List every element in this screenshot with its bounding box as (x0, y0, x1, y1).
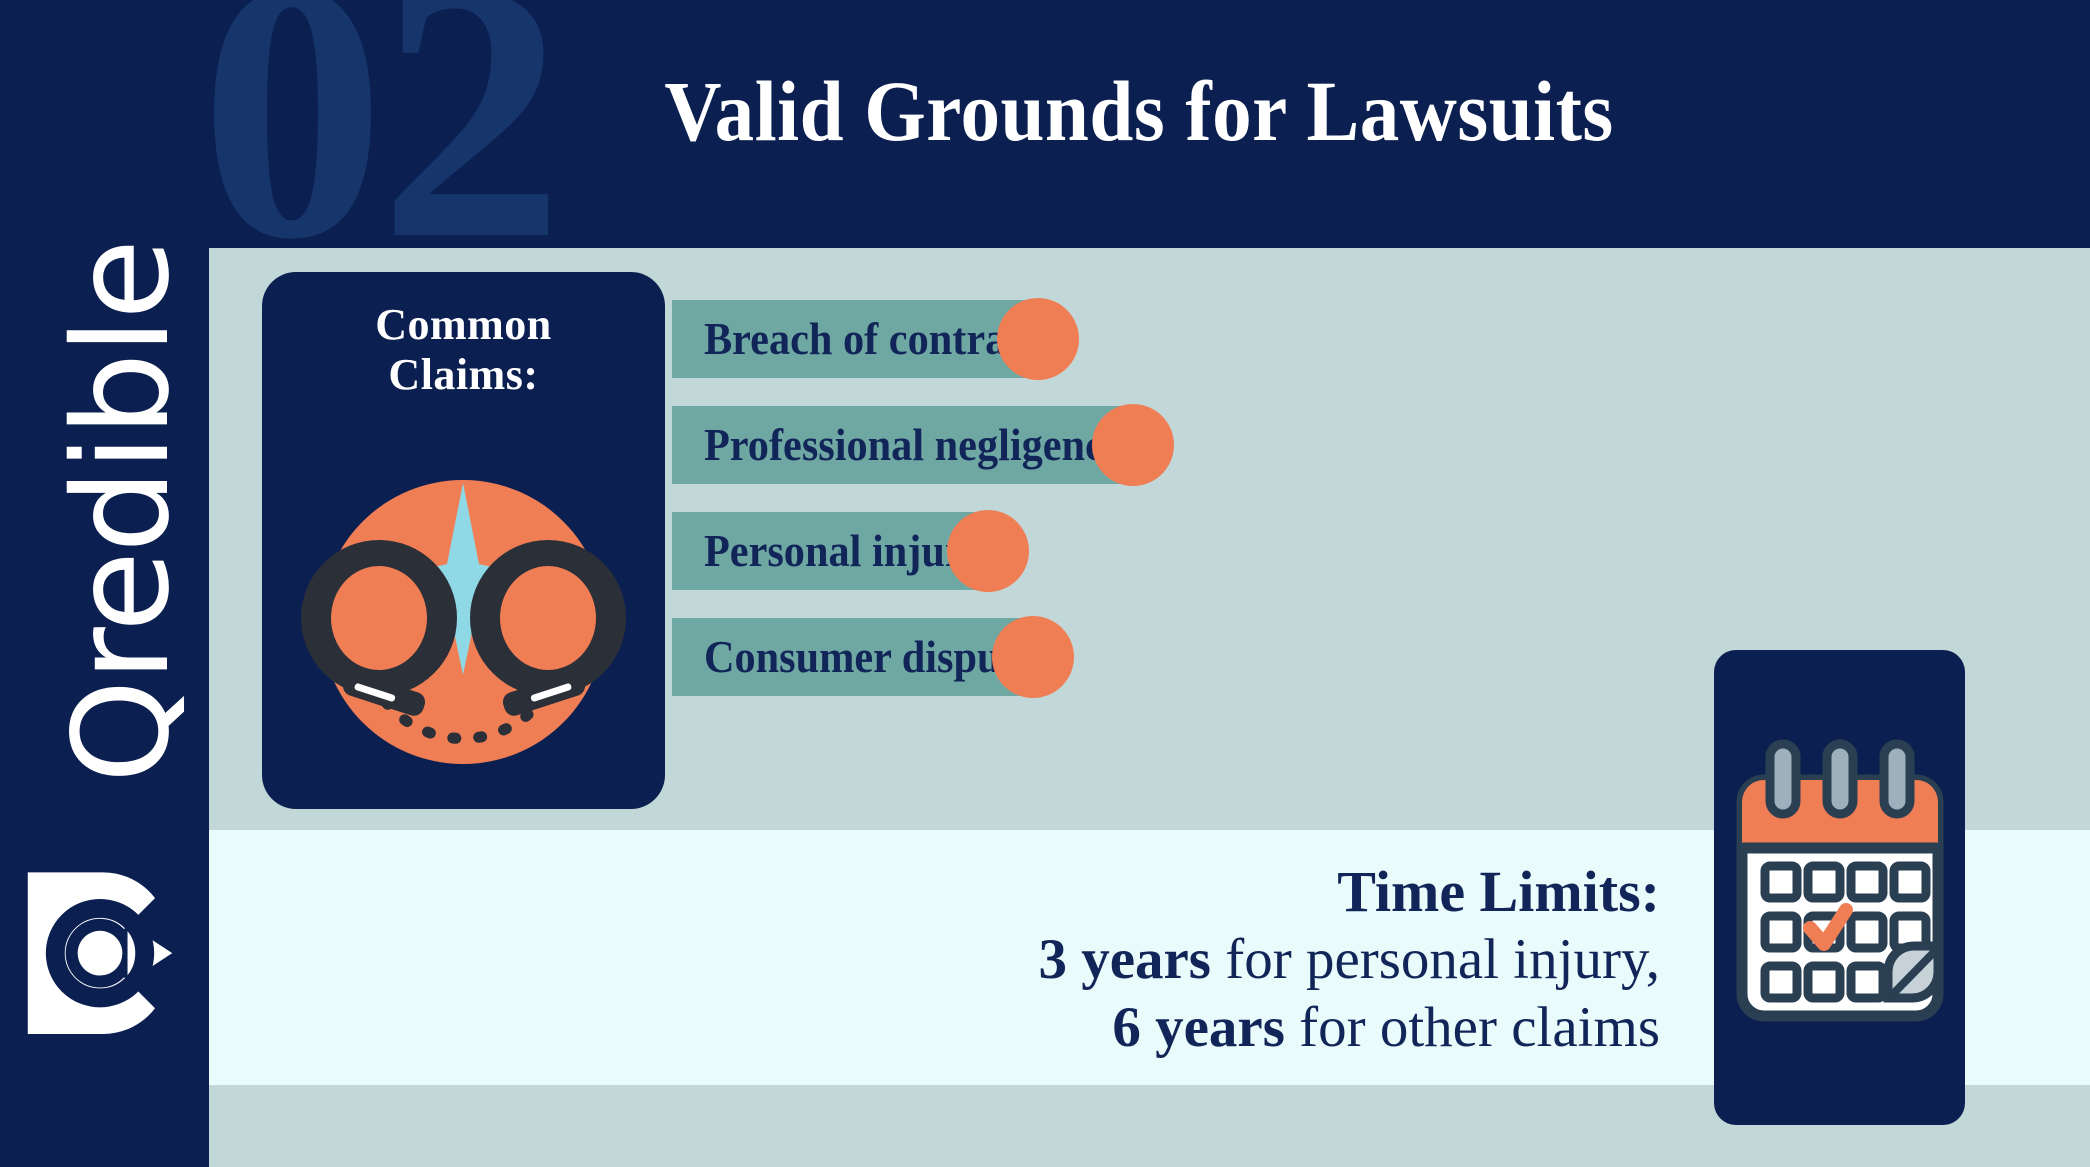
claim-bar: Professional negligence (672, 406, 1127, 484)
claim-bar: Personal injury (672, 512, 982, 590)
time-limits-block: Time Limits: 3 years for personal injury… (640, 858, 1660, 1061)
claim-row[interactable]: Breach of contract (672, 300, 1572, 378)
time-limits-years-3: 3 years (1038, 928, 1211, 991)
claim-bullet-dot (1092, 404, 1174, 486)
time-limits-line3-rest: for other claims (1285, 996, 1660, 1059)
calendar-check-icon (1736, 736, 1944, 1036)
common-claims-card: Common Claims: (262, 272, 665, 809)
claim-bar: Consumer disputes (672, 618, 1027, 696)
common-claims-title-line2: Claims: (262, 350, 665, 400)
claim-bullet-dot (997, 298, 1079, 380)
time-limits-years-6: 6 years (1112, 996, 1285, 1059)
claim-row[interactable]: Consumer disputes (672, 618, 1572, 696)
claims-bar-list: Breach of contract Professional negligen… (672, 300, 1572, 724)
calendar-card (1714, 650, 1965, 1125)
time-limits-line-other-claims: 6 years for other claims (640, 994, 1660, 1061)
page-title: Valid Grounds for Lawsuits (283, 68, 1994, 154)
infographic-canvas: 02 Valid Grounds for Lawsuits Qredible C… (0, 0, 2090, 1167)
claim-bar: Breach of contract (672, 300, 1037, 378)
claim-bullet-dot (947, 510, 1029, 592)
brand-wordmark: Qredible (42, 162, 202, 862)
claim-label: Professional negligence (672, 423, 1123, 468)
claim-row[interactable]: Personal injury (672, 512, 1572, 590)
claim-label: Personal injury (672, 529, 985, 574)
common-claims-title: Common Claims: (262, 300, 665, 399)
brand-rail: Qredible (0, 0, 209, 1167)
qredible-logo-mark-icon (14, 862, 186, 1034)
common-claims-title-line1: Common (262, 300, 665, 350)
handcuffs-icon (276, 444, 651, 774)
time-limits-line-personal-injury: 3 years for personal injury, (640, 926, 1660, 993)
claim-label: Breach of contract (672, 317, 1039, 362)
claim-row[interactable]: Professional negligence (672, 406, 1572, 484)
time-limits-heading: Time Limits: (640, 858, 1660, 926)
claim-bullet-dot (992, 616, 1074, 698)
time-limits-line2-rest: for personal injury, (1211, 928, 1660, 991)
